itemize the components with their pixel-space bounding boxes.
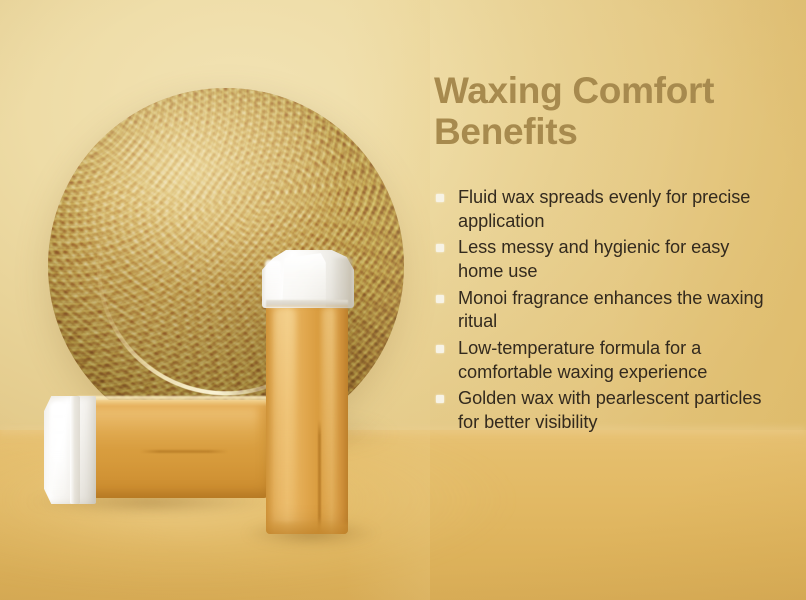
list-item-label: Less messy and hygienic for easy home us… — [458, 237, 729, 281]
text-panel: Waxing Comfort Benefits Fluid wax spread… — [424, 0, 806, 600]
list-item-label: Low-temperature formula for a comfortabl… — [458, 338, 707, 382]
wax-cartridge-lying-cap-highlight — [50, 402, 66, 496]
bullet-square-icon — [436, 194, 444, 202]
bullet-square-icon — [436, 244, 444, 252]
wax-cartridge-standing-cap-facet — [282, 253, 326, 307]
promo-card: Waxing Comfort Benefits Fluid wax spread… — [0, 0, 806, 600]
wax-cartridge-lying — [22, 392, 270, 508]
list-item-label: Monoi fragrance enhances the waxing ritu… — [458, 288, 764, 332]
wax-cartridge-lying-cap-ridge — [70, 396, 80, 504]
list-item: Monoi fragrance enhances the waxing ritu… — [432, 287, 778, 334]
list-item-label: Fluid wax spreads evenly for precise app… — [458, 187, 750, 231]
wax-cartridge-standing-sheen-left — [274, 308, 296, 522]
wax-cartridge-lying-top-edge — [76, 396, 268, 406]
wax-cartridge-standing-sheen-right — [322, 308, 335, 522]
wax-cartridge-lying-seam — [140, 450, 228, 453]
wax-cartridge-standing — [256, 250, 362, 540]
wax-cartridge-standing-base — [266, 520, 348, 534]
bullet-square-icon — [436, 345, 444, 353]
benefits-list: Fluid wax spreads evenly for precise app… — [432, 186, 792, 435]
bullet-square-icon — [436, 295, 444, 303]
list-item: Fluid wax spreads evenly for precise app… — [432, 186, 778, 233]
wax-cartridge-standing-cap-neck — [266, 300, 348, 307]
wax-cartridge-standing-seam — [318, 420, 321, 532]
list-item: Golden wax with pearlescent particles fo… — [432, 387, 778, 434]
list-item: Low-temperature formula for a comfortabl… — [432, 337, 778, 384]
wax-cartridge-lying-sheen — [82, 408, 258, 448]
list-item-label: Golden wax with pearlescent particles fo… — [458, 388, 761, 432]
list-item: Less messy and hygienic for easy home us… — [432, 236, 778, 283]
bullet-square-icon — [436, 395, 444, 403]
page-title: Waxing Comfort Benefits — [434, 70, 786, 152]
